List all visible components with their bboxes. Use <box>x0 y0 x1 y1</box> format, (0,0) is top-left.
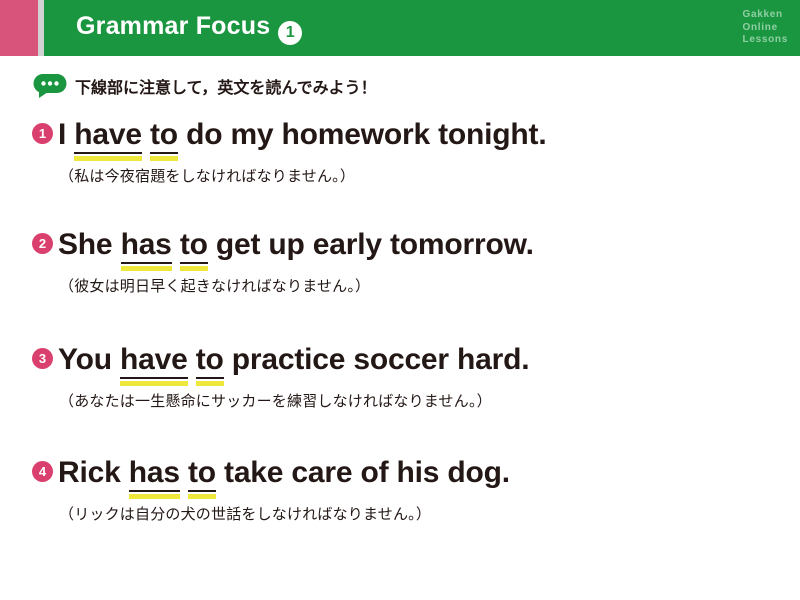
japanese-translation: （リックは自分の犬の世話をしなければなりません。） <box>59 503 510 524</box>
page-title-text: Grammar Focus <box>76 12 270 40</box>
sentence-number-badge: 2 <box>32 233 53 254</box>
logo-line-3: Lessons <box>743 34 788 47</box>
page-title-badge: 1 <box>278 21 302 45</box>
english-sentence-row: 3 You have to practice soccer hard. <box>32 343 529 377</box>
underlined-phrase: to <box>180 228 208 264</box>
sentence-text <box>172 228 180 261</box>
sentence-item: 4 Rick has to take care of his dog. （リック… <box>32 456 510 524</box>
english-sentence: I have to do my homework tonight. <box>58 118 546 152</box>
sentence-text: I <box>58 118 74 151</box>
sentence-number-badge: 1 <box>32 123 53 144</box>
underlined-phrase: to <box>188 456 216 492</box>
english-sentence: You have to practice soccer hard. <box>58 343 529 377</box>
instruction-row: 下線部に注意して，英文を読んでみよう！ <box>33 74 377 98</box>
sentence-text <box>180 456 188 489</box>
sentence-number-badge: 3 <box>32 348 53 369</box>
page-title: Grammar Focus1 <box>76 12 302 45</box>
sentence-text: get up early tomorrow. <box>208 228 534 261</box>
english-sentence: She has to get up early tomorrow. <box>58 228 534 262</box>
sentence-item: 3 You have to practice soccer hard. （あなた… <box>32 343 529 411</box>
sentence-text: take care of his dog. <box>216 456 510 489</box>
underlined-phrase: to <box>150 118 178 154</box>
japanese-translation: （私は今夜宿題をしなければなりません。） <box>59 165 546 186</box>
english-sentence-row: 2 She has to get up early tomorrow. <box>32 228 534 262</box>
header-accent-stripe <box>0 0 38 56</box>
logo-line-1: Gakken <box>743 9 788 22</box>
underlined-phrase: have <box>120 343 188 379</box>
sentence-text: Rick <box>58 456 129 489</box>
english-sentence-row: 4 Rick has to take care of his dog. <box>32 456 510 490</box>
sentence-number-badge: 4 <box>32 461 53 482</box>
japanese-translation: （あなたは一生懸命にサッカーを練習しなければなりません。） <box>59 390 529 411</box>
underlined-phrase: has <box>129 456 180 492</box>
japanese-translation: （彼女は明日早く起きなければなりません。） <box>59 275 534 296</box>
sentence-text <box>188 343 196 376</box>
sentence-text: practice soccer hard. <box>224 343 530 376</box>
speech-bubble-dots-icon <box>33 74 69 98</box>
sentence-text: She <box>58 228 121 261</box>
sentence-text <box>142 118 150 151</box>
logo-line-2: Online <box>743 22 788 35</box>
english-sentence: Rick has to take care of his dog. <box>58 456 510 490</box>
sentence-item: 1 I have to do my homework tonight. （私は今… <box>32 118 546 186</box>
sentence-text: You <box>58 343 120 376</box>
sentence-text: do my homework tonight. <box>178 118 547 151</box>
underlined-phrase: have <box>74 118 142 154</box>
underlined-phrase: to <box>196 343 224 379</box>
instruction-text: 下線部に注意して，英文を読んでみよう！ <box>75 74 377 98</box>
sentence-item: 2 She has to get up early tomorrow. （彼女は… <box>32 228 534 296</box>
underlined-phrase: has <box>121 228 172 264</box>
page-header: Grammar Focus1 Gakken Online Lessons <box>0 0 800 56</box>
gakken-online-lessons-logo: Gakken Online Lessons <box>743 9 788 47</box>
english-sentence-row: 1 I have to do my homework tonight. <box>32 118 546 152</box>
